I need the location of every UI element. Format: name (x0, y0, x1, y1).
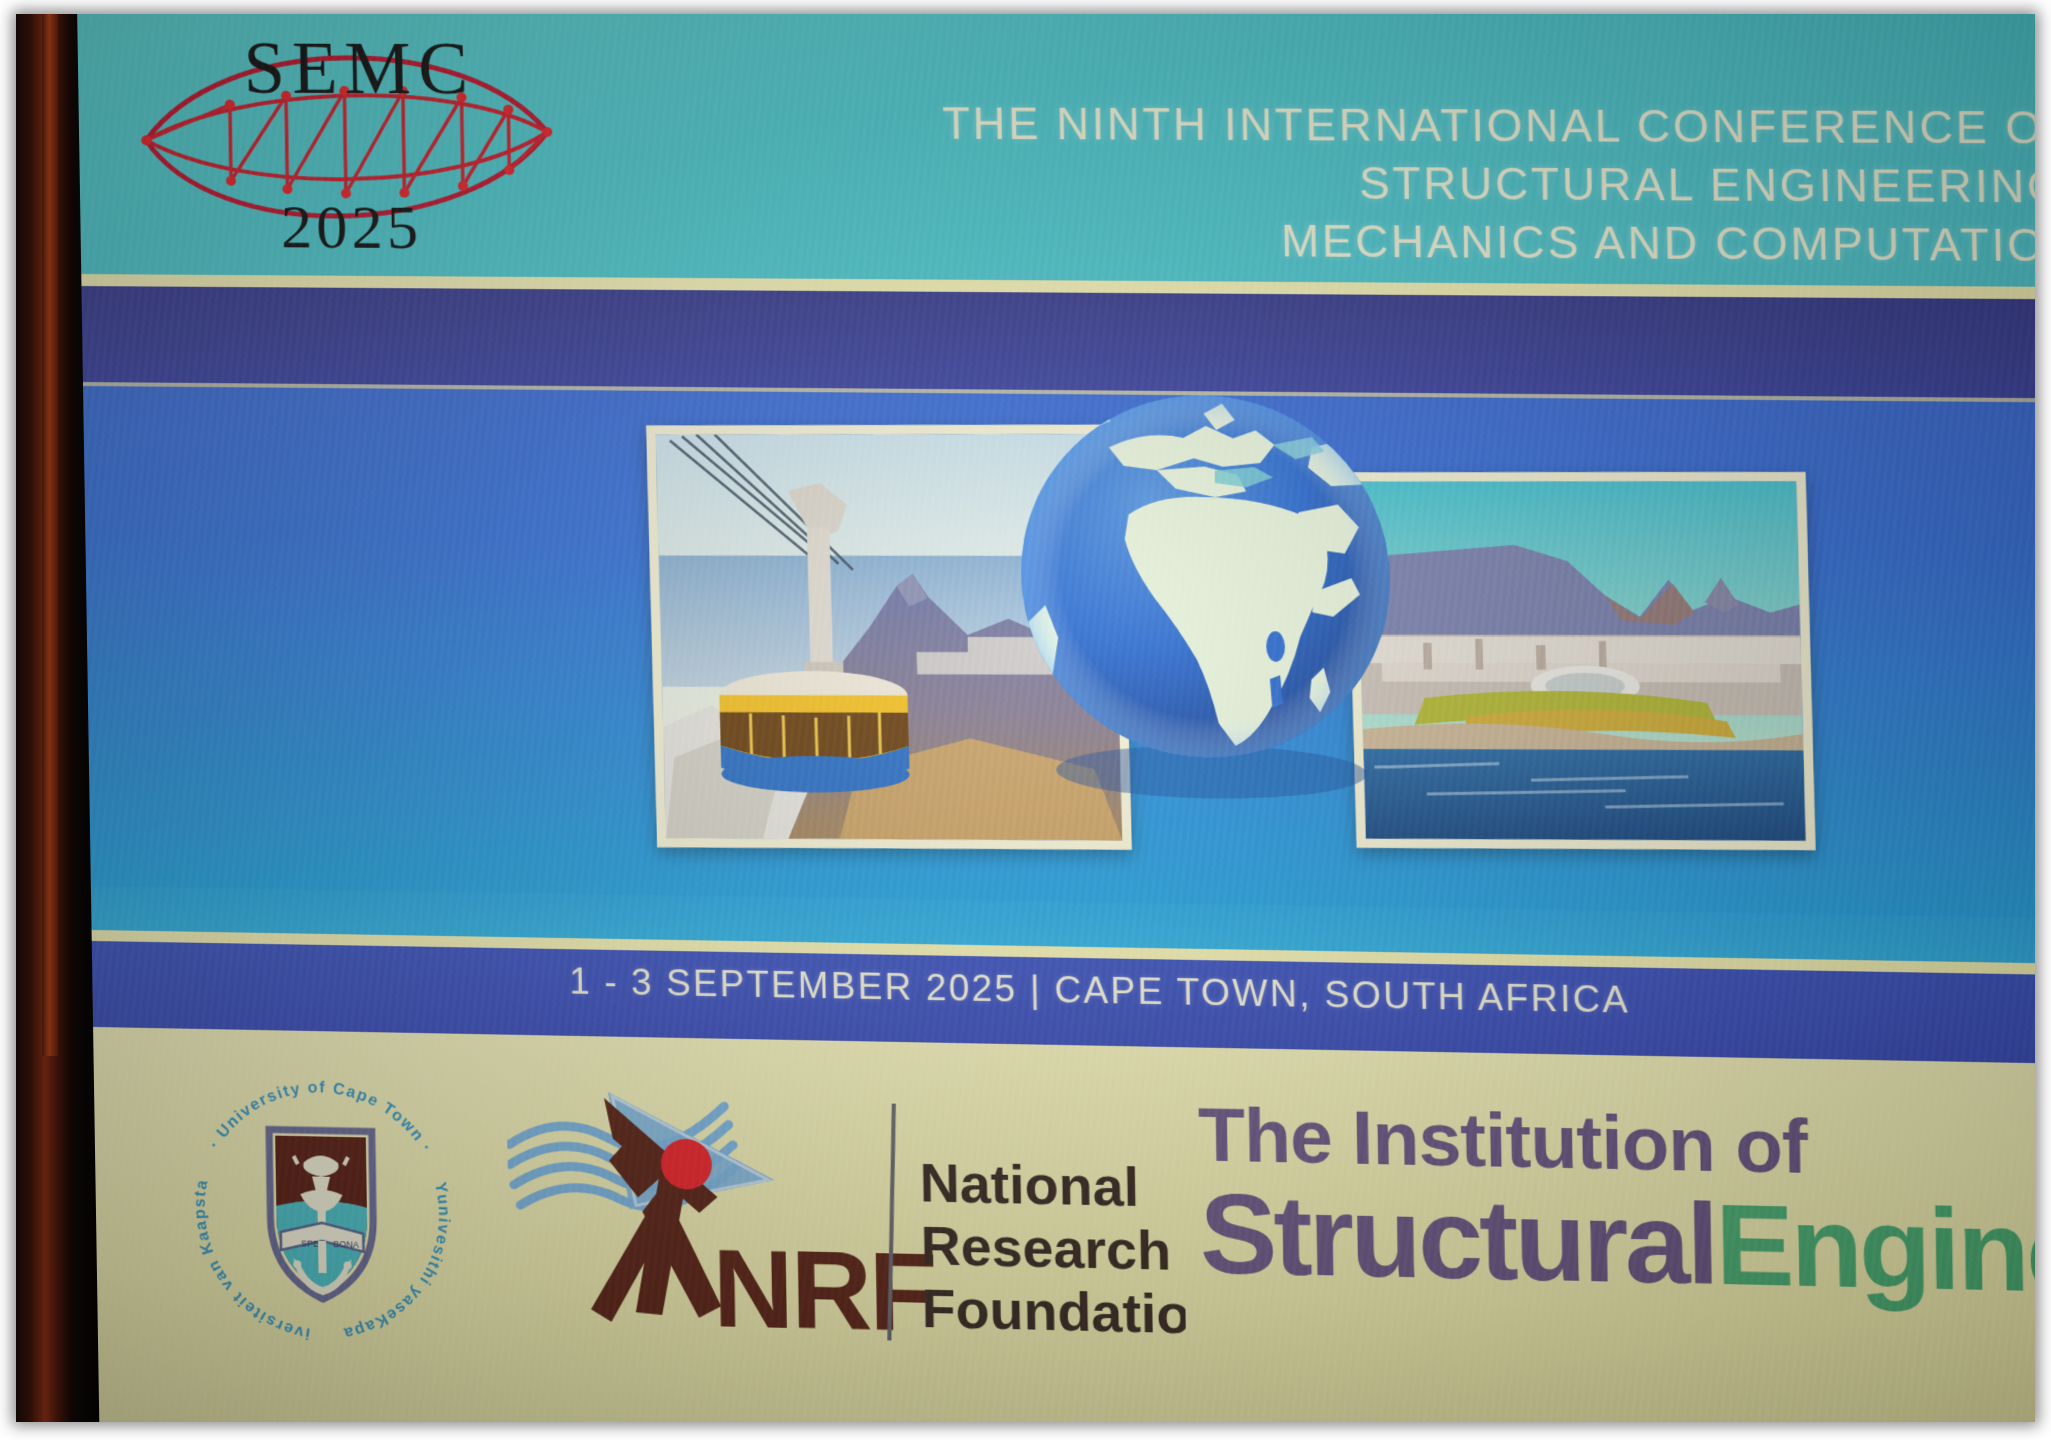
istructe-word-structural: Structural (1199, 1170, 1717, 1309)
curtain-rail (42, 14, 58, 1056)
semc-year-text: 2025 (280, 193, 422, 262)
nrf-acronym: NRF (712, 1226, 936, 1355)
title-line-1: THE NINTH INTERNATIONAL CONFERENCE ON (848, 95, 2035, 158)
nrf-line-3: Foundation (921, 1278, 1187, 1346)
globe-africa-graphic (1000, 371, 1411, 854)
photograph-content: SEMC 2025 THE NINTH INTERNATIONAL CONFER… (16, 14, 2035, 1422)
sponsor-row: · University of Cape Town · iYunivesithi… (93, 1034, 2035, 1422)
cape-town-panorama-photo (1347, 472, 1816, 850)
photograph-frame: SEMC 2025 THE NINTH INTERNATIONAL CONFER… (0, 0, 2051, 1440)
nrf-line-2: Research (920, 1216, 1171, 1282)
title-line-3: MECHANICS AND COMPUTATION (850, 211, 2035, 277)
media-row (83, 398, 2035, 932)
semc-acronym-text: SEMC (243, 27, 476, 110)
semc-logo: SEMC 2025 (132, 14, 559, 265)
conference-title: THE NINTH INTERNATIONAL CONFERENCE ON ST… (848, 95, 2035, 276)
title-line-2: STRUCTURAL ENGINEERING, (849, 153, 2035, 218)
projection-screen: SEMC 2025 THE NINTH INTERNATIONAL CONFER… (77, 14, 2035, 1422)
istructe-line-2: StructuralEngineers (1199, 1177, 2035, 1315)
nrf-line-1: National (919, 1153, 1139, 1218)
istructe-logo: The Institution of StructuralEngineers (1198, 1097, 2035, 1393)
uct-seal: · University of Cape Town · iYunivesithi… (164, 1053, 481, 1371)
istructe-word-engineers: Engineers (1714, 1180, 2035, 1320)
nrf-logo: NRF National Research Foundation (506, 1082, 1186, 1390)
uct-motto-right: BONA (333, 1239, 359, 1250)
